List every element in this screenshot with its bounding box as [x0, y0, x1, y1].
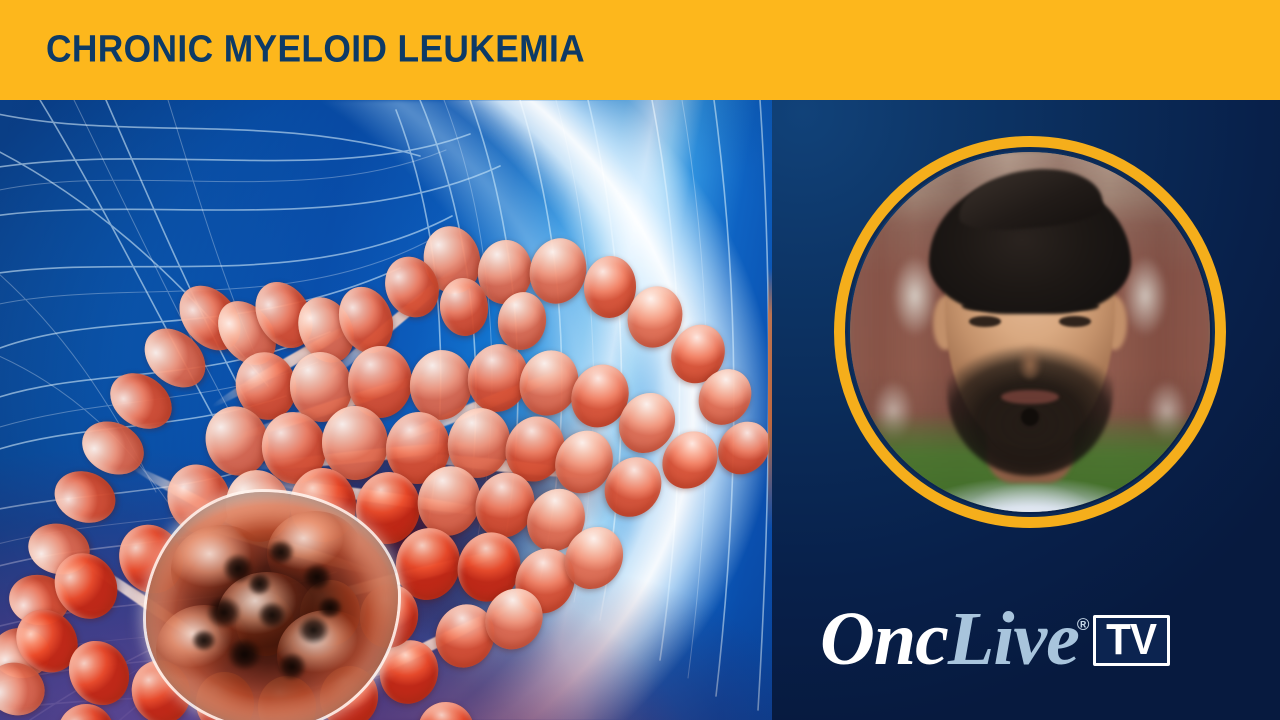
page-title-text: CHRONIC MYELOID LEUKEMIA: [46, 29, 585, 72]
registered-mark-icon: ®: [1077, 615, 1090, 634]
avatar-ring: [834, 136, 1226, 528]
video-thumbnail-card: CHRONIC MYELOID LEUKEMIA: [0, 0, 1280, 720]
brand-panel: OncLive® TV: [772, 100, 1280, 720]
logo-onc-text: Onc: [820, 597, 948, 681]
avatar: [834, 136, 1226, 528]
logo-tv-text: TV: [1107, 620, 1157, 660]
logo-wordmark: OncLive®: [820, 603, 1089, 676]
medical-illustration-panel: [0, 100, 772, 720]
page-title: CHRONIC MYELOID LEUKEMIA: [46, 29, 626, 72]
onclive-tv-logo: OncLive® TV: [820, 588, 1232, 676]
media-vignette: [0, 100, 772, 720]
logo-tv-badge: TV: [1093, 615, 1169, 666]
header-bar: CHRONIC MYELOID LEUKEMIA: [0, 0, 1280, 100]
logo-live-text: Live: [948, 597, 1079, 681]
